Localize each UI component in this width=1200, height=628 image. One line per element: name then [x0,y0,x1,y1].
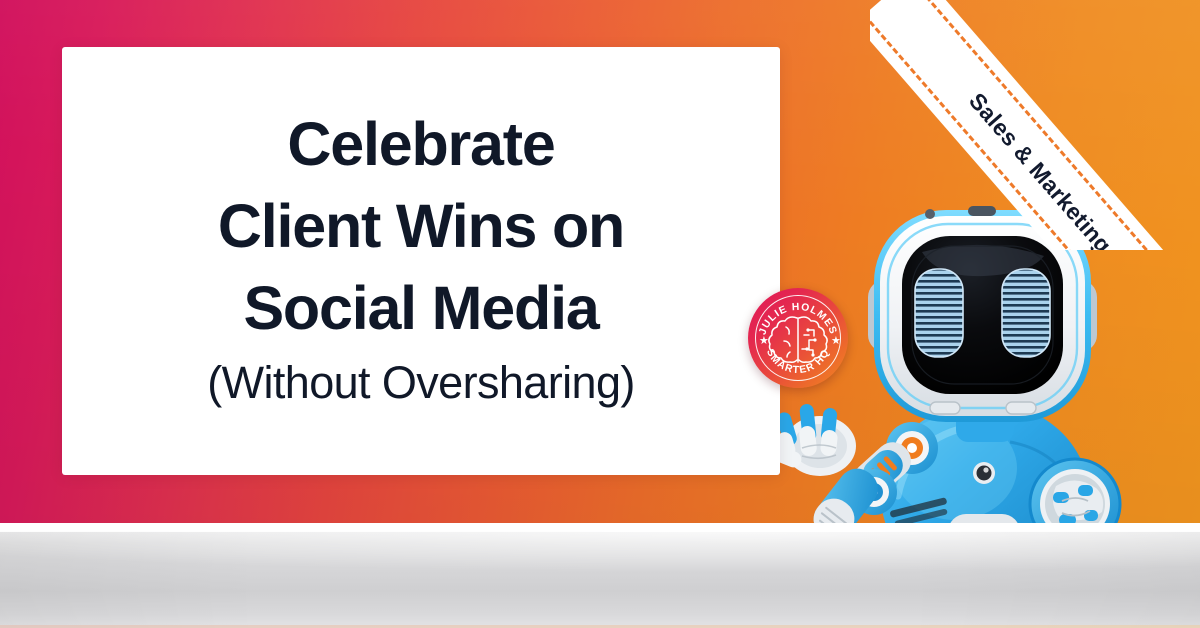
hero-graphic: Celebrate Client Wins on Social Media (W… [0,0,1200,628]
ribbon-label: Sales & Marketing [870,0,1200,250]
desk-sheen [0,531,1200,628]
title-line-3: Social Media [218,268,624,350]
badge-star-right: ★ [831,335,841,347]
title-line-1: Celebrate [218,104,624,186]
ribbon-band: Sales & Marketing [870,0,1200,250]
robot-eye-left [915,269,963,357]
page-title: Celebrate Client Wins on Social Media [218,104,624,349]
badge-star-left: ★ [759,335,769,347]
title-line-2: Client Wins on [218,186,624,268]
corner-ribbon[interactable]: Sales & Marketing [870,0,1200,250]
title-card: Celebrate Client Wins on Social Media (W… [62,47,780,475]
brand-badge[interactable]: JULIE HOLMES SMARTER HQ [748,288,848,388]
robot-eye-right [1002,269,1050,357]
desk-top-edge [0,531,1200,532]
page-subtitle: (Without Oversharing) [207,356,635,410]
